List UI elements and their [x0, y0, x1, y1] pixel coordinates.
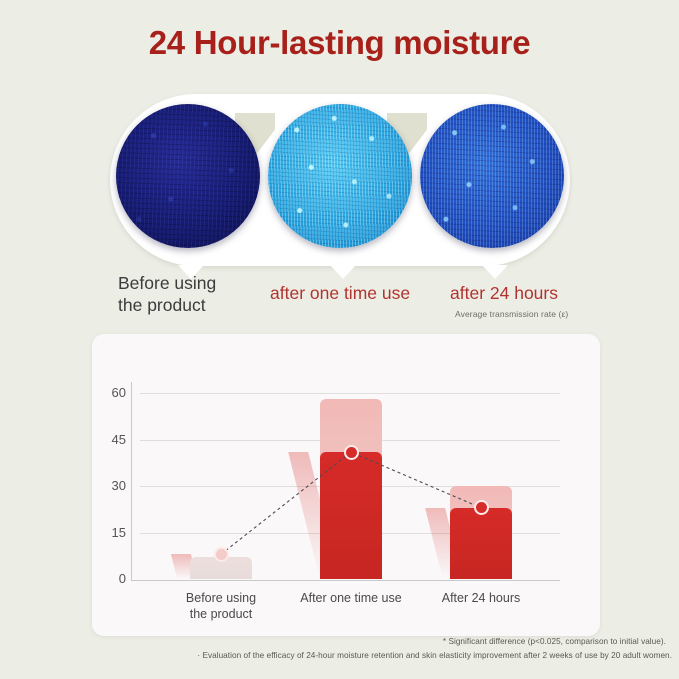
photo-after-one-time-use — [258, 98, 422, 262]
x-axis-line — [131, 580, 560, 581]
metric-label: Average transmission rate (ε) — [455, 309, 615, 319]
caption-after-one-time-use: after one time use — [270, 283, 440, 305]
x-label-0: Before using the product — [151, 591, 291, 622]
caption-before: Before using the product — [118, 273, 278, 317]
y-tick-0: 0 — [98, 571, 126, 586]
photo-after-24-hours — [410, 98, 574, 262]
y-tick-15: 15 — [98, 525, 126, 540]
data-marker-0 — [214, 547, 229, 562]
photo-before-using-the-product — [106, 98, 270, 262]
infographic-root: 24 Hour-lasting moisture Before using th… — [0, 0, 679, 679]
data-marker-1 — [344, 445, 359, 460]
x-label-1: After one time use — [281, 591, 421, 607]
y-tick-30: 30 — [98, 478, 126, 493]
y-axis-line — [131, 382, 132, 581]
skin-texture-dark-icon — [116, 104, 260, 248]
x-label-2: After 24 hours — [411, 591, 551, 607]
footnote-evaluation: · Evaluation of the efficacy of 24-hour … — [0, 651, 672, 660]
data-marker-2 — [474, 500, 489, 515]
footnote-significance: * Significant difference (p<0.025, compa… — [0, 637, 666, 646]
page-title: 24 Hour-lasting moisture — [0, 25, 679, 61]
trend-line — [140, 384, 560, 579]
skin-texture-mid-icon — [420, 104, 564, 248]
caption-after-24-hours: after 24 hours — [450, 283, 600, 305]
photo-circle-group — [110, 94, 570, 266]
bubble-tail-2-icon — [330, 265, 356, 279]
skin-texture-bright-icon — [268, 104, 412, 248]
y-tick-60: 60 — [98, 385, 126, 400]
y-tick-45: 45 — [98, 432, 126, 447]
bubble-tail-3-icon — [482, 265, 508, 279]
